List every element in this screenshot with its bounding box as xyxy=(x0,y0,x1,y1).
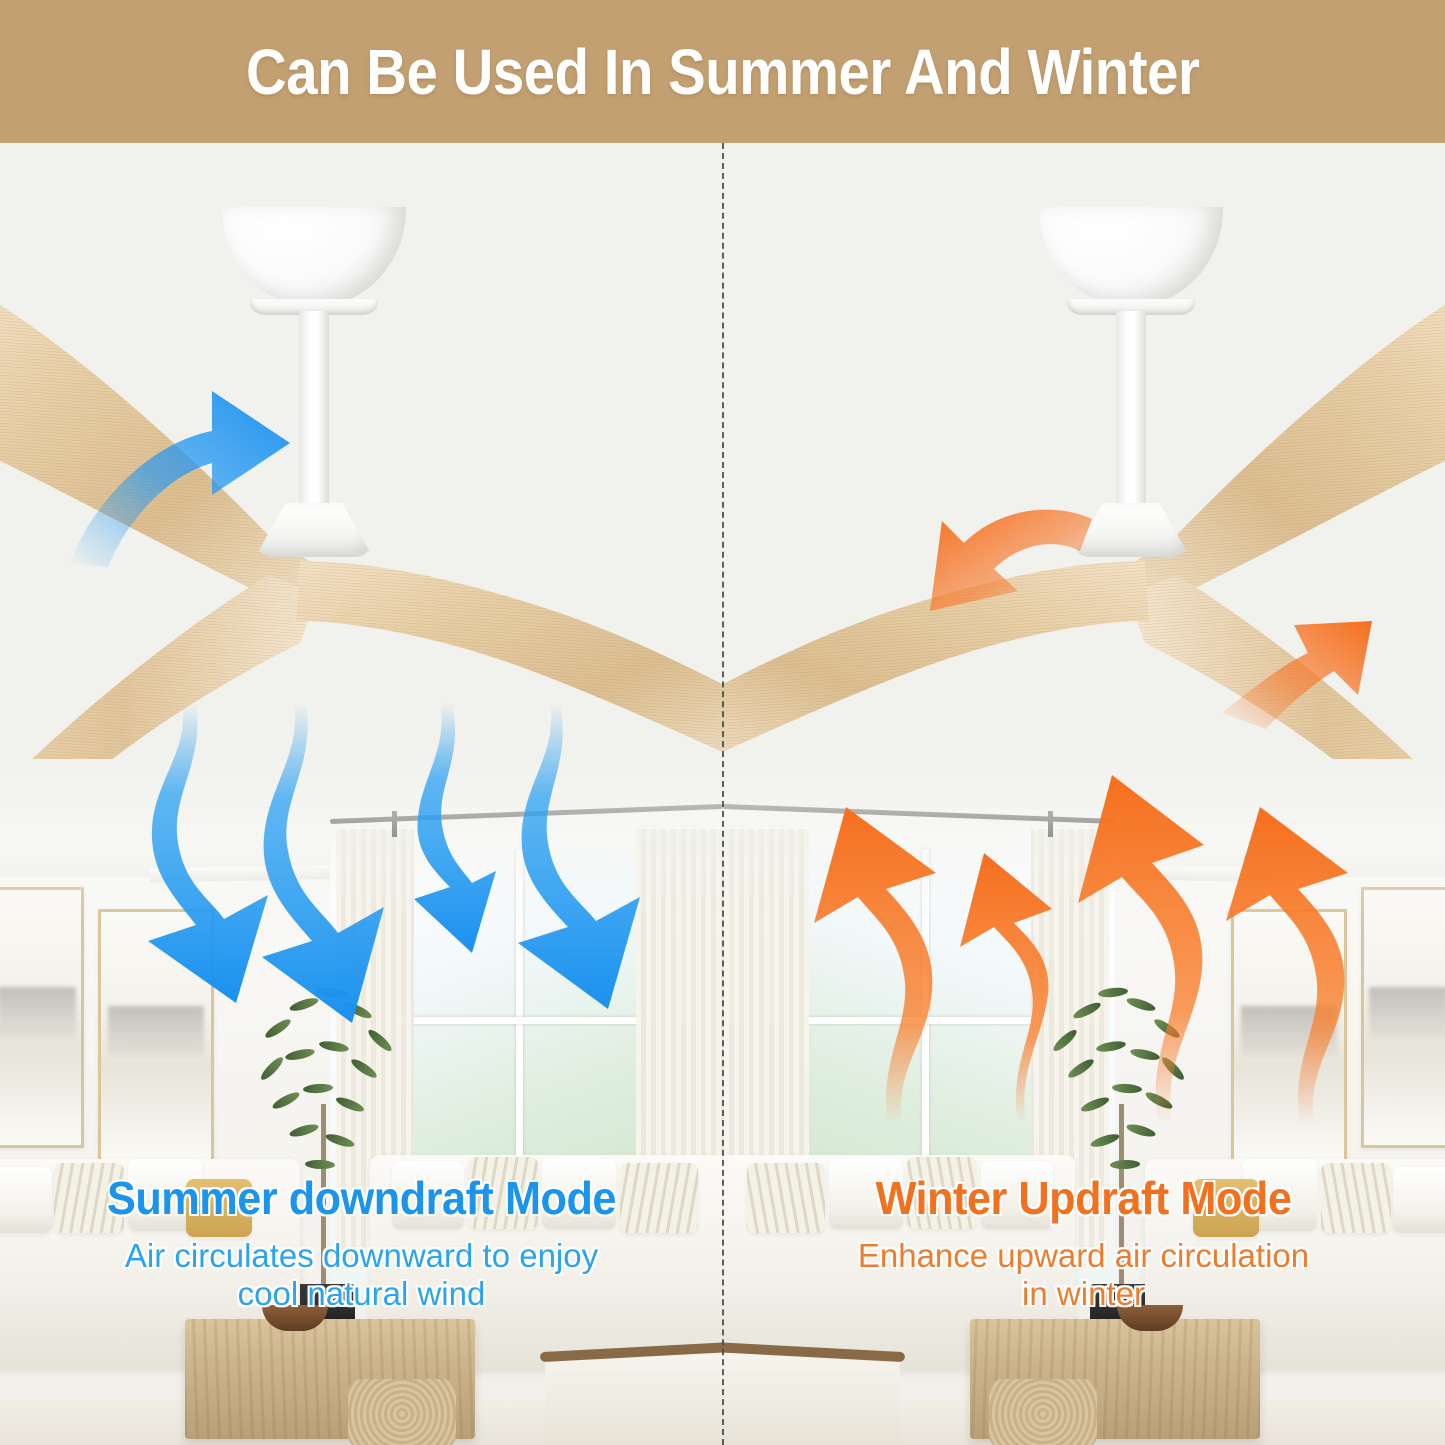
cushion xyxy=(392,1161,464,1229)
room-scene-summer xyxy=(0,759,723,1445)
cushion-gold xyxy=(1193,1179,1259,1237)
cushion xyxy=(747,1163,825,1233)
panel-divider xyxy=(722,143,724,1445)
fan-scene-winter xyxy=(722,143,1445,823)
cushion xyxy=(1393,1167,1445,1233)
wall-art-1 xyxy=(1361,887,1445,1148)
cushion xyxy=(0,1167,52,1233)
page-title: Can Be Used In Summer And Winter xyxy=(246,35,1199,109)
room-top-fade xyxy=(722,759,1445,919)
cushion xyxy=(907,1157,977,1229)
wall-art-2 xyxy=(1231,909,1347,1163)
panel-summer: Summer downdraft Mode Air circulates dow… xyxy=(0,143,723,1445)
infographic-root: Can Be Used In Summer And Winter xyxy=(0,0,1445,1445)
armchair xyxy=(545,1351,723,1445)
room-top-fade xyxy=(0,759,723,919)
armchair xyxy=(722,1351,900,1445)
cushion xyxy=(54,1163,124,1233)
header-banner: Can Be Used In Summer And Winter xyxy=(0,0,1445,143)
fan-scene-summer xyxy=(0,143,723,823)
cushion xyxy=(981,1161,1053,1229)
panel-winter: Winter Updraft Mode Enhance upward air c… xyxy=(722,143,1445,1445)
cushion xyxy=(620,1163,698,1233)
cushion xyxy=(468,1157,538,1229)
room-scene-winter xyxy=(722,759,1445,1445)
wall-art-2 xyxy=(98,909,214,1163)
cushion xyxy=(1321,1163,1391,1233)
woven-ottoman xyxy=(348,1379,456,1445)
window-mullion-horizontal xyxy=(395,1017,645,1024)
window-mullion-horizontal xyxy=(800,1017,1050,1024)
fan-downrod xyxy=(299,311,329,507)
cushion xyxy=(829,1159,903,1229)
wall-art-1 xyxy=(0,887,84,1148)
cushion xyxy=(542,1159,616,1229)
fan-downrod xyxy=(1116,311,1146,507)
woven-ottoman xyxy=(989,1379,1097,1445)
cushion-gold xyxy=(186,1179,252,1237)
